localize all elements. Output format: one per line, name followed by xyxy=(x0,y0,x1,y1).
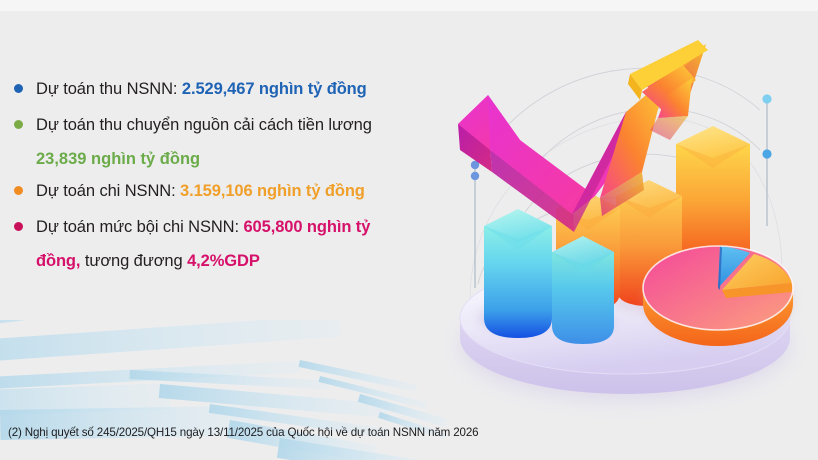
bullet-value-gdp: 4,2%GDP xyxy=(187,252,260,270)
bullet-item-chuyen-nguon: Dự toán thu chuyển nguồn cải cách tiền l… xyxy=(10,112,450,172)
bullet-text: Dự toán mức bội chi NSNN: 605,800 nghìn … xyxy=(36,214,370,274)
bar-cyan-short xyxy=(552,236,614,344)
bullet-list: Dự toán thu NSNN: 2.529,467 nghìn tỷ đồn… xyxy=(10,76,450,278)
bullet-text: Dự toán thu NSNN: 2.529,467 nghìn tỷ đồn… xyxy=(36,76,367,102)
bullet-label: Dự toán thu chuyển nguồn cải cách tiền l… xyxy=(36,112,372,138)
bullet-item-boi-chi: Dự toán mức bội chi NSNN: 605,800 nghìn … xyxy=(10,214,450,274)
bullet-dot-icon xyxy=(14,222,23,231)
bar-cyan-tall xyxy=(484,209,552,338)
bullet-value-dong: đồng, xyxy=(36,252,80,270)
footnote: (2) Nghị quyết số 245/2025/QH15 ngày 13/… xyxy=(8,426,478,439)
guide-line-left xyxy=(471,161,479,288)
guide-dot-icon xyxy=(762,94,771,103)
bullet-dot-icon xyxy=(14,120,23,129)
illustration-3d-growth-chart xyxy=(430,0,818,420)
guide-line-right xyxy=(762,94,771,226)
guide-dot-icon xyxy=(471,172,479,180)
bullet-line-2: đồng, tương đương 4,2%GDP xyxy=(36,248,370,274)
bullet-value: 3.159,106 nghìn tỷ đồng xyxy=(180,182,365,200)
bullet-text: Dự toán thu chuyển nguồn cải cách tiền l… xyxy=(36,112,372,172)
bullet-plain-text: tương đương xyxy=(80,252,187,270)
bullet-text: Dự toán chi NSNN: 3.159,106 nghìn tỷ đồn… xyxy=(36,178,365,204)
bullet-dot-icon xyxy=(14,84,23,93)
diagonal-stripes-decoration xyxy=(0,320,450,460)
bullet-value-second-line: 23,839 nghìn tỷ đồng xyxy=(36,146,372,172)
bullet-item-thu-nsnn: Dự toán thu NSNN: 2.529,467 nghìn tỷ đồn… xyxy=(10,76,450,102)
bullet-label: Dự toán mức bội chi NSNN: xyxy=(36,218,239,236)
bullet-dot-icon xyxy=(14,186,23,195)
bullet-item-chi-nsnn: Dự toán chi NSNN: 3.159,106 nghìn tỷ đồn… xyxy=(10,178,450,204)
pie-chart-3d xyxy=(643,246,793,346)
bullet-line-1: Dự toán mức bội chi NSNN: 605,800 nghìn … xyxy=(36,214,370,240)
bullet-value: 605,800 nghìn tỷ xyxy=(243,218,370,236)
bullet-label: Dự toán thu NSNN: xyxy=(36,80,177,98)
guide-dot-icon xyxy=(762,149,771,158)
slide-canvas: Dự toán thu NSNN: 2.529,467 nghìn tỷ đồn… xyxy=(0,0,818,460)
bullet-value: 2.529,467 nghìn tỷ đồng xyxy=(182,80,367,98)
bullet-label: Dự toán chi NSNN: xyxy=(36,182,176,200)
